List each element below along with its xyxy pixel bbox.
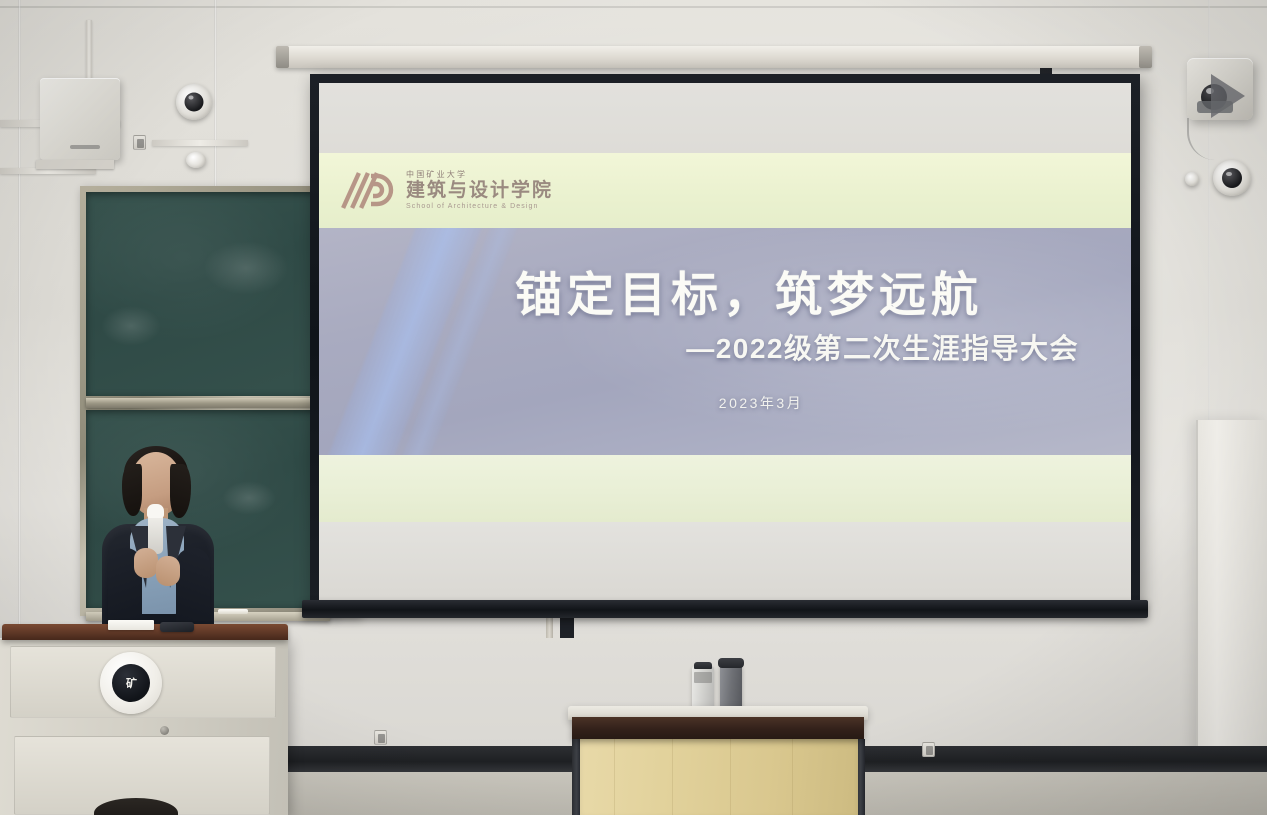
roller-cap-right <box>1139 46 1152 68</box>
right-dome-sensor <box>1213 160 1251 196</box>
slide-bottom-band <box>319 455 1131 522</box>
slide-hero-area: 锚定目标，筑梦远航 —2022级第二次生涯指导大会 2023年3月 <box>319 228 1131 456</box>
wall-speaker <box>40 78 120 160</box>
presentation-slide: 中国矿业大学 建筑与设计学院 School of Architecture & … <box>319 83 1131 600</box>
chalk-piece <box>218 609 248 614</box>
microphone-head-icon <box>147 504 164 518</box>
front-table-panel <box>580 738 858 815</box>
presenter-hair-left <box>122 464 142 516</box>
wood-grain <box>672 738 673 815</box>
speaker-grille-lower <box>1197 101 1233 113</box>
slide-top-margin <box>319 83 1131 153</box>
logo-university-name: 中国矿业大学 <box>406 171 553 179</box>
bottle-cap <box>694 662 712 669</box>
presenter-hand-right <box>156 556 180 586</box>
right-dome-lens-icon <box>1222 168 1242 188</box>
thermos-cap <box>718 658 744 668</box>
school-logo: 中国矿业大学 建筑与设计学院 School of Architecture & … <box>341 170 553 210</box>
dome-lens-icon <box>185 93 204 112</box>
bottle-label <box>694 672 712 683</box>
screen-support-pole <box>546 616 553 638</box>
chalkboard-divider <box>86 398 329 408</box>
logo-school-name: 建筑与设计学院 <box>406 180 553 202</box>
podium-phone <box>160 622 194 632</box>
podium-knob <box>160 726 169 735</box>
chalk-smudge <box>101 306 161 346</box>
presenter-hand-left <box>134 548 158 578</box>
wood-grain <box>730 738 731 815</box>
university-emblem: 矿 <box>100 652 162 714</box>
wall-conduit-c <box>152 140 248 146</box>
roller-cap-left <box>276 46 289 68</box>
slide-text-block: 锚定目标，筑梦远航 —2022级第二次生涯指导大会 2023年3月 <box>319 228 1131 456</box>
slide-bottom-margin <box>319 522 1131 600</box>
screen-pole-clamp <box>560 616 574 638</box>
speaker-bracket <box>36 160 114 169</box>
screen-weight-bar <box>302 600 1148 618</box>
slide-subtitle: —2022级第二次生涯指导大会 <box>319 327 1131 367</box>
wood-grain <box>792 738 793 815</box>
school-logo-text: 中国矿业大学 建筑与设计学院 School of Architecture & … <box>406 171 553 210</box>
chalk-smudge <box>203 241 289 295</box>
slide-logo-band: 中国矿业大学 建筑与设计学院 School of Architecture & … <box>319 153 1131 228</box>
chalk-smudge <box>222 481 276 515</box>
screen-surface: 中国矿业大学 建筑与设计学院 School of Architecture & … <box>319 83 1131 600</box>
front-table-edge <box>572 717 864 739</box>
chalkboard-panel-upper <box>86 192 329 396</box>
wall-mounted-speaker-camera <box>1187 58 1253 120</box>
wall-small-dome <box>186 152 206 168</box>
ceiling-seam <box>0 6 1267 8</box>
ad-monogram-icon <box>341 170 397 210</box>
ceiling-dome-sensor <box>176 84 212 120</box>
wall-outlet-upper <box>133 135 146 150</box>
wall-outlet-right <box>922 742 935 757</box>
slide-date: 2023年3月 <box>319 393 1131 413</box>
wood-grain <box>614 738 615 815</box>
screen-roller-housing <box>276 46 1152 68</box>
podium-paper <box>108 620 154 630</box>
lecture-hall-scene: 中国矿业大学 建筑与设计学院 School of Architecture & … <box>0 0 1267 815</box>
logo-school-name-en: School of Architecture & Design <box>406 203 553 210</box>
wall-outlet-lower <box>374 730 387 745</box>
presenter-hair-right <box>170 464 191 518</box>
right-small-dome <box>1185 172 1199 186</box>
emblem-glyph: 矿 <box>112 664 150 702</box>
speaker-brand-mark <box>70 145 100 149</box>
projection-screen: 中国矿业大学 建筑与设计学院 School of Architecture & … <box>310 74 1140 609</box>
wall-seam-left <box>18 0 21 640</box>
slide-title: 锚定目标，筑梦远航 <box>319 270 1131 321</box>
